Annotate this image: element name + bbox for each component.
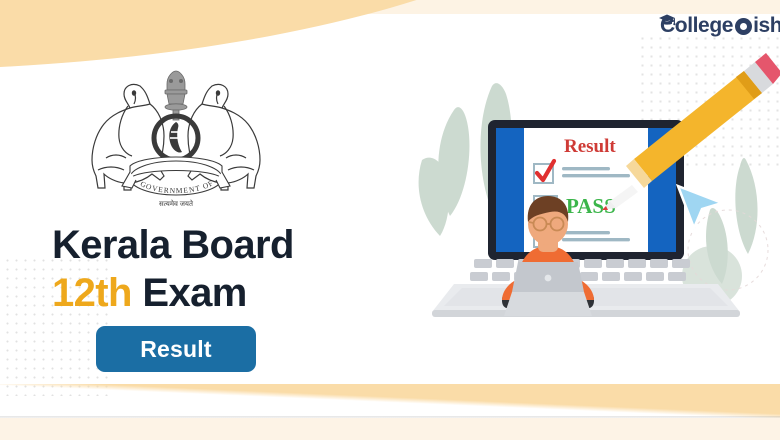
result-heading: Result [564, 136, 616, 157]
title-line-1: Kerala Board [52, 224, 382, 266]
government-of-kerala-emblem: GOVERNMENT OF KERALA सत्यमेव जयते [72, 62, 280, 217]
logo-text-part2: isha [753, 14, 780, 38]
collegedisha-logo[interactable]: Collegeisha [660, 14, 780, 38]
logo-d-glyph [735, 18, 752, 35]
page-title: Kerala Board 12th Exam [52, 224, 382, 314]
result-illustration: Result A+ PASS [410, 40, 780, 330]
bottom-peach-wedge [0, 384, 780, 418]
bottom-cream-strip [0, 418, 780, 440]
kerala-board-result-banner: Collegeisha [0, 0, 780, 440]
small-laptop-base [504, 292, 592, 316]
title-exam-word: Exam [142, 271, 246, 315]
top-peach-curve-secondary [0, 11, 310, 67]
svg-text:सत्यमेव जयते: सत्यमेव जयते [159, 199, 194, 208]
result-button[interactable]: Result [96, 326, 256, 372]
title-line-2: 12th Exam [52, 272, 382, 314]
title-grade-highlight: 12th [52, 271, 132, 315]
